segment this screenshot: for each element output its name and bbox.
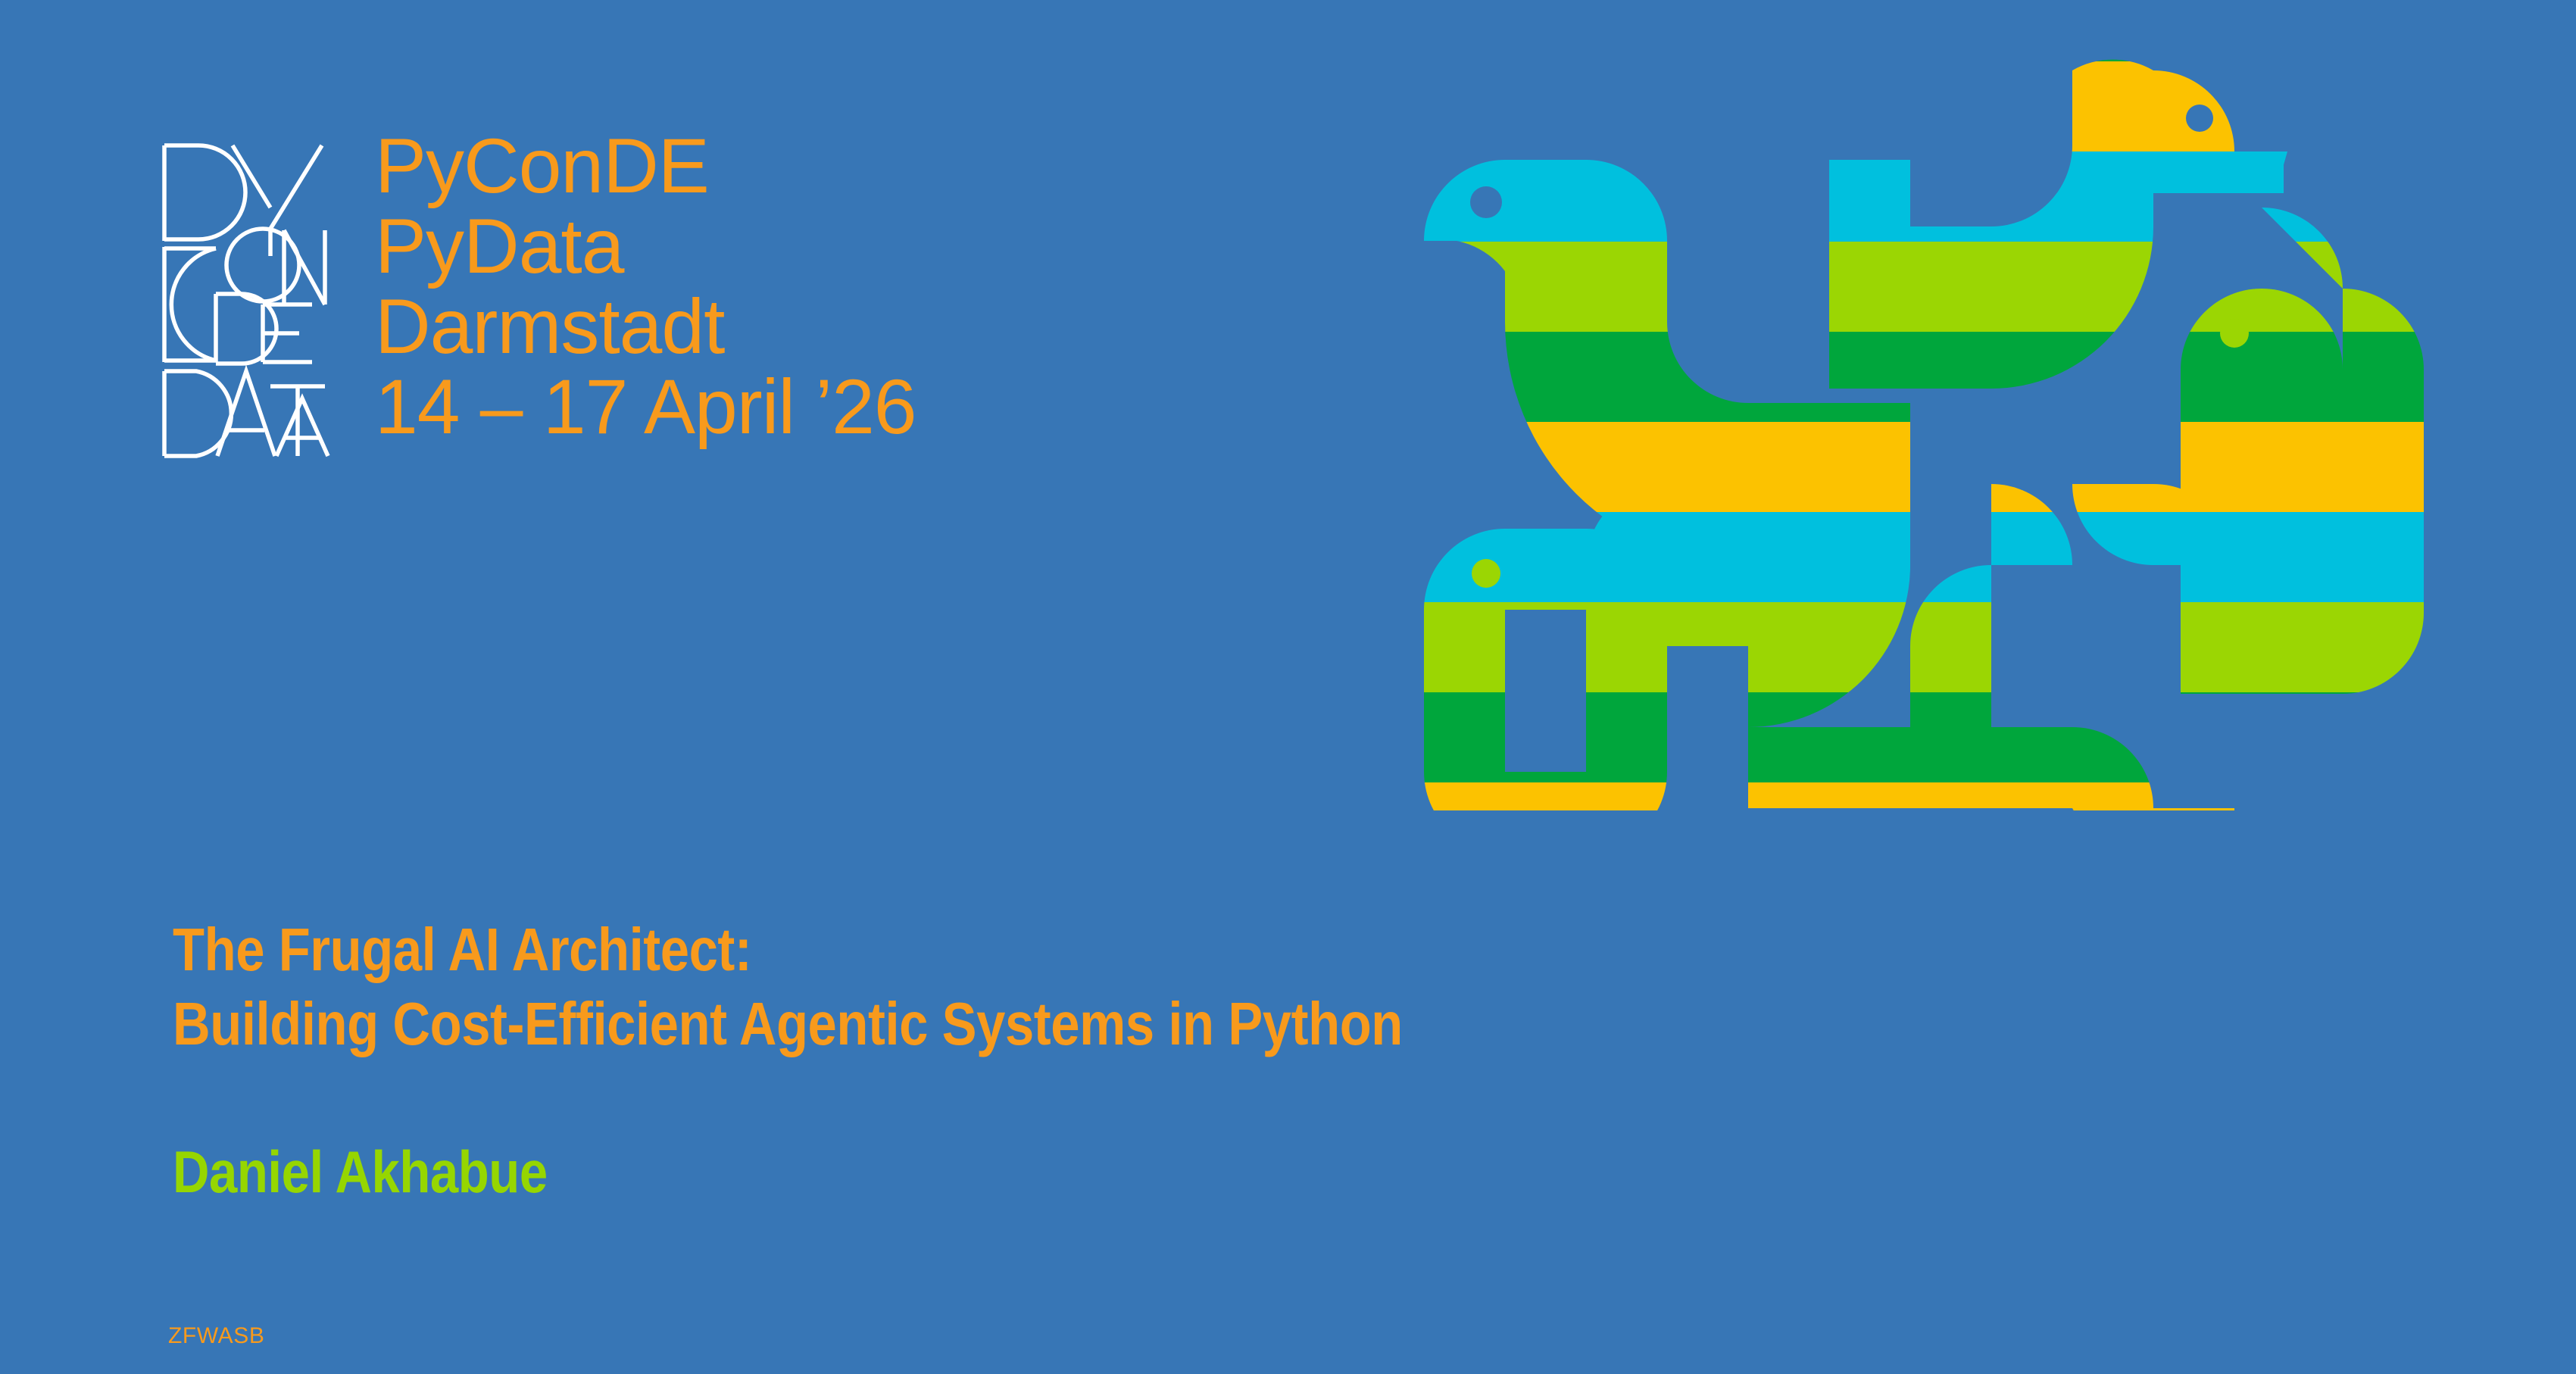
wordmark-line-pyconde: PyConDE: [375, 126, 916, 206]
snake-eye: [2186, 105, 2213, 132]
pyconde-pydata-monogram-icon: [157, 135, 333, 467]
talk-title-line-1: The Frugal AI Architect:: [173, 913, 2062, 987]
slide-canvas: PyConDE PyData Darmstadt 14 – 17 April ’…: [0, 0, 2576, 1374]
snake-eye: [1470, 186, 1502, 218]
snakes-illustration: [1424, 45, 2424, 810]
logo-wordmark: PyConDE PyData Darmstadt 14 – 17 April ’…: [375, 126, 916, 447]
wordmark-line-darmstadt: Darmstadt: [375, 286, 916, 367]
slide-code: ZFWASB: [168, 1323, 264, 1349]
wordmark-line-pydata: PyData: [375, 206, 916, 286]
wordmark-line-dates: 14 – 17 April ’26: [375, 367, 916, 447]
snake-eye: [2220, 319, 2249, 348]
talk-title-block: The Frugal AI Architect: Building Cost-E…: [173, 913, 2369, 1061]
snakes-illustration-svg: [1424, 45, 2424, 810]
snake-right: [2181, 208, 2424, 694]
snake-eye: [1472, 559, 1500, 588]
talk-title-line-2: Building Cost-Efficient Agentic Systems …: [173, 987, 2062, 1061]
speaker-name: Daniel Akhabue: [173, 1137, 548, 1207]
conference-logo: PyConDE PyData Darmstadt 14 – 17 April ’…: [157, 135, 916, 467]
